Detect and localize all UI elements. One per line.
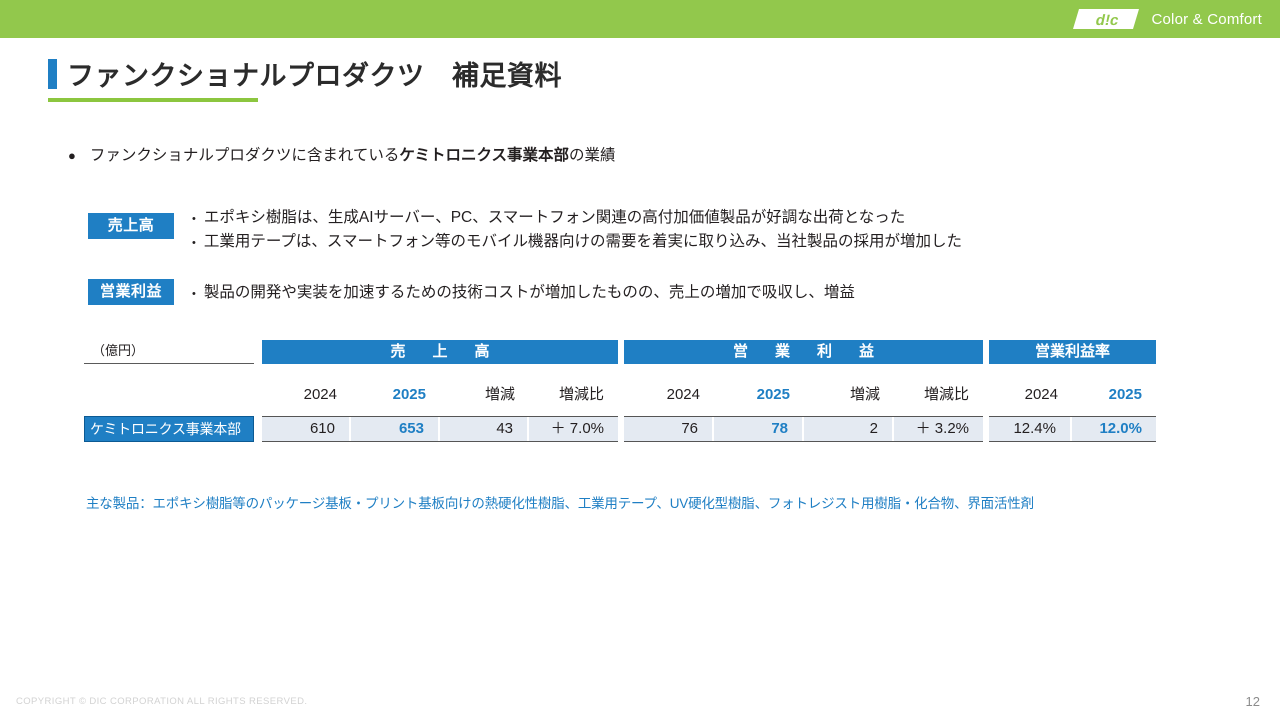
subheader-sales-prev: 2024 <box>262 364 351 410</box>
gap <box>254 416 262 442</box>
list-item: • 工業用テープは、スマートフォン等のモバイル機器向けの需要を着実に取り込み、当… <box>192 230 962 254</box>
list-item-text: 工業用テープは、スマートフォン等のモバイル機器向けの需要を着実に取り込み、当社製… <box>204 230 962 254</box>
subheader-sales-change: 増減 <box>440 364 529 410</box>
group-header-margin: 営業利益率 <box>989 340 1156 364</box>
copyright-text: COPYRIGHT © DIC CORPORATION ALL RIGHTS R… <box>16 696 307 707</box>
cell-margin-cur: 12.0% <box>1072 417 1156 441</box>
list-item-text: 製品の開発や実装を加速するための技術コストが増加したものの、売上の増加で吸収し、… <box>204 281 855 305</box>
page-number: 12 <box>1246 694 1260 709</box>
brand-lockup: d!c Color & Comfort <box>1073 5 1262 33</box>
cell-sales-prev: 610 <box>262 417 351 441</box>
brand-tagline: Color & Comfort <box>1151 11 1262 28</box>
lead-prefix: ファンクショナルプロダクツに含まれている <box>90 143 400 165</box>
table-group-header-row: （億円） 売 上 高 営 業 利 益 営業利益率 <box>84 340 1156 364</box>
dic-logo-icon: d!c <box>1073 7 1139 31</box>
title-accent-bar <box>48 59 57 89</box>
cell-op-cur: 78 <box>714 417 804 441</box>
operating-income-bullet-list: • 製品の開発や実装を加速するための技術コストが増加したものの、売上の増加で吸収… <box>192 281 855 305</box>
cell-sales-cur: 653 <box>351 417 440 441</box>
cellgroup-sales: 610 653 43 ＋ 7.0% <box>262 416 618 442</box>
gap <box>254 340 262 364</box>
badge-operating-income: 営業利益 <box>88 279 174 305</box>
cell-op-change: 2 <box>804 417 894 441</box>
table-subheader-row: 2024 2025 増減 増減比 2024 2025 増減 増減比 2024 2… <box>84 364 1156 410</box>
results-table: （億円） 売 上 高 営 業 利 益 営業利益率 2024 2025 増減 増減… <box>84 340 1156 442</box>
table-row: ケミトロニクス事業本部 610 653 43 ＋ 7.0% 76 78 2 ＋ … <box>84 416 1156 442</box>
spacer <box>84 364 262 410</box>
bullet-dot-icon: • <box>192 214 196 225</box>
subheader-margin-cur: 2025 <box>1072 364 1156 410</box>
list-item: • 製品の開発や実装を加速するための技術コストが増加したものの、売上の増加で吸収… <box>192 281 855 305</box>
unit-label: （億円） <box>84 340 254 364</box>
cell-margin-prev: 12.4% <box>989 417 1072 441</box>
cell-op-change-rate: ＋ 3.2% <box>894 417 983 441</box>
bullet-dot-icon: • <box>192 289 196 300</box>
group-header-operating-income: 営 業 利 益 <box>624 340 983 364</box>
table-row-label: ケミトロニクス事業本部 <box>84 416 254 442</box>
subheader-margin-prev: 2024 <box>989 364 1072 410</box>
lead-suffix: の業績 <box>569 143 616 165</box>
bullet-dot-icon: • <box>192 238 196 249</box>
cell-op-prev: 76 <box>624 417 714 441</box>
subheader-sales-change-rate: 増減比 <box>529 364 618 410</box>
list-item-text: エポキシ樹脂は、生成AIサーバー、PC、スマートフォン関連の高付加価値製品が好調… <box>204 206 905 230</box>
group-header-sales: 売 上 高 <box>262 340 618 364</box>
subheader-sales-cur: 2025 <box>351 364 440 410</box>
svg-text:d!c: d!c <box>1095 12 1121 29</box>
lead-bullet: ● ファンクショナルプロダクツに含まれている ケミトロニクス事業本部 の業績 <box>68 143 616 165</box>
list-item: • エポキシ樹脂は、生成AIサーバー、PC、スマートフォン関連の高付加価値製品が… <box>192 206 962 230</box>
cellgroup-margin: 12.4% 12.0% <box>989 416 1156 442</box>
page-title: ファンクショナルプロダクツ 補足資料 <box>48 54 562 93</box>
footnote-main-products: 主な製品：エポキシ樹脂等のパッケージ基板・プリント基板向けの熱硬化性樹脂、工業用… <box>86 492 1034 512</box>
subheader-op-change-rate: 増減比 <box>894 364 983 410</box>
subheader-op-cur: 2025 <box>714 364 804 410</box>
sales-bullet-list: • エポキシ樹脂は、生成AIサーバー、PC、スマートフォン関連の高付加価値製品が… <box>192 206 962 254</box>
title-text: ファンクショナルプロダクツ 補足資料 <box>67 54 562 93</box>
badge-sales: 売上高 <box>88 213 174 239</box>
subheader-op-change: 増減 <box>804 364 894 410</box>
cell-sales-change-rate: ＋ 7.0% <box>529 417 618 441</box>
cell-sales-change: 43 <box>440 417 529 441</box>
title-underline <box>48 98 258 102</box>
subheader-op-prev: 2024 <box>624 364 714 410</box>
cellgroup-operating-income: 76 78 2 ＋ 3.2% <box>624 416 983 442</box>
bullet-dot-icon: ● <box>68 149 76 162</box>
lead-emphasis: ケミトロニクス事業本部 <box>399 143 569 165</box>
